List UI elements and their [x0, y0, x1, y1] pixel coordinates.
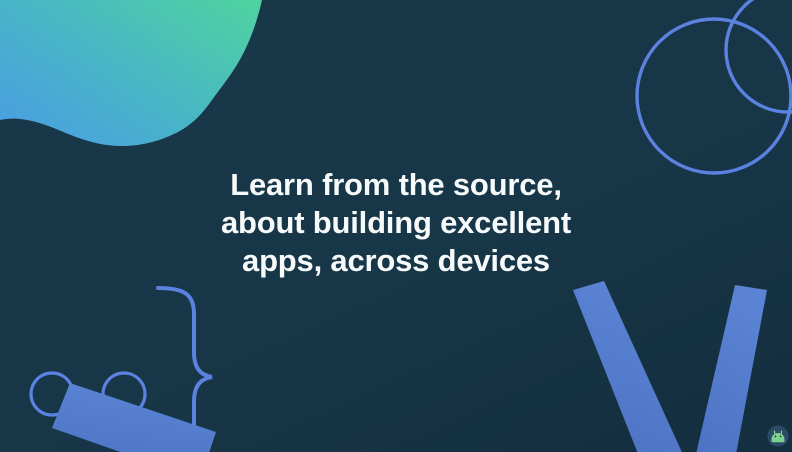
robot-body — [771, 439, 784, 442]
robot-eye-left — [775, 436, 777, 438]
presentation-slide: Learn from the source, about building ex… — [0, 0, 792, 452]
background-decorations — [0, 0, 792, 452]
robot-eye-right — [780, 436, 782, 438]
android-robot-badge-icon[interactable] — [767, 425, 789, 447]
